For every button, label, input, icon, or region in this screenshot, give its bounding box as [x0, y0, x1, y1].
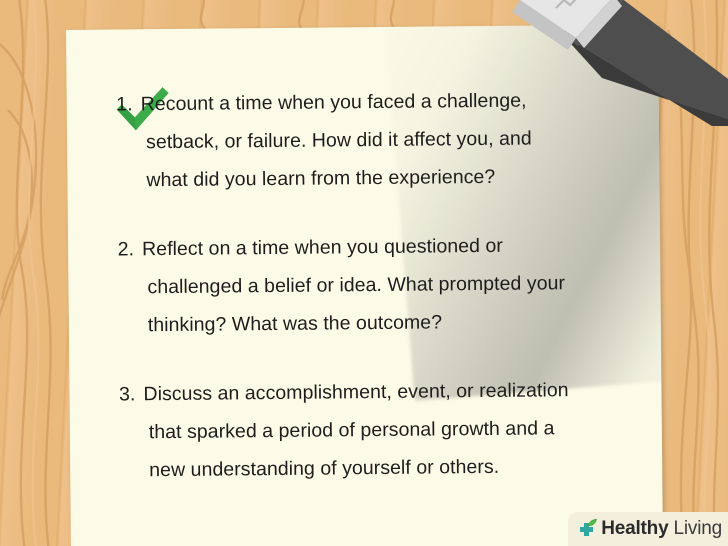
brand-logo: Healthy Living	[568, 512, 728, 546]
prompt-line: challenged a belief or idea. What prompt…	[142, 264, 565, 306]
prompt-line: Recount a time when you faced a challeng…	[141, 82, 532, 124]
prompt-list: 1. Recount a time when you faced a chall…	[107, 81, 641, 490]
list-item: 3. Discuss an accomplishment, event, or …	[109, 371, 640, 490]
usb-flash-drive-icon	[498, 0, 728, 126]
list-item-number: 3.	[109, 375, 136, 489]
prompt-line: Reflect on a time when you questioned or	[142, 226, 565, 268]
prompt-line: setback, or failure. How did it affect y…	[141, 120, 532, 162]
list-item: 2. Reflect on a time when you questioned…	[108, 226, 639, 345]
prompt-line: new understanding of yourself or others.	[144, 447, 569, 489]
brand-name-bold: Healthy	[601, 518, 668, 539]
prompt-line: what did you learn from the experience?	[141, 158, 532, 200]
brand-name-light: Living	[674, 518, 722, 539]
prompt-line: that sparked a period of personal growth…	[144, 409, 569, 451]
list-item-text: Discuss an accomplishment, event, or rea…	[135, 371, 569, 489]
list-item-text: Reflect on a time when you questioned or…	[134, 226, 566, 344]
list-item-number: 2.	[108, 230, 135, 344]
prompt-line: thinking? What was the outcome?	[143, 302, 566, 344]
illustration-canvas: 1. Recount a time when you faced a chall…	[0, 0, 728, 546]
list-item-text: Recount a time when you faced a challeng…	[133, 82, 533, 200]
list-item-number: 1.	[107, 85, 134, 199]
prompt-list-container: 1. Recount a time when you faced a chall…	[107, 81, 641, 521]
cross-leaf-icon	[576, 518, 598, 540]
prompt-line: Discuss an accomplishment, event, or rea…	[143, 371, 568, 413]
brand-logo-text: Healthy Living	[601, 518, 722, 540]
